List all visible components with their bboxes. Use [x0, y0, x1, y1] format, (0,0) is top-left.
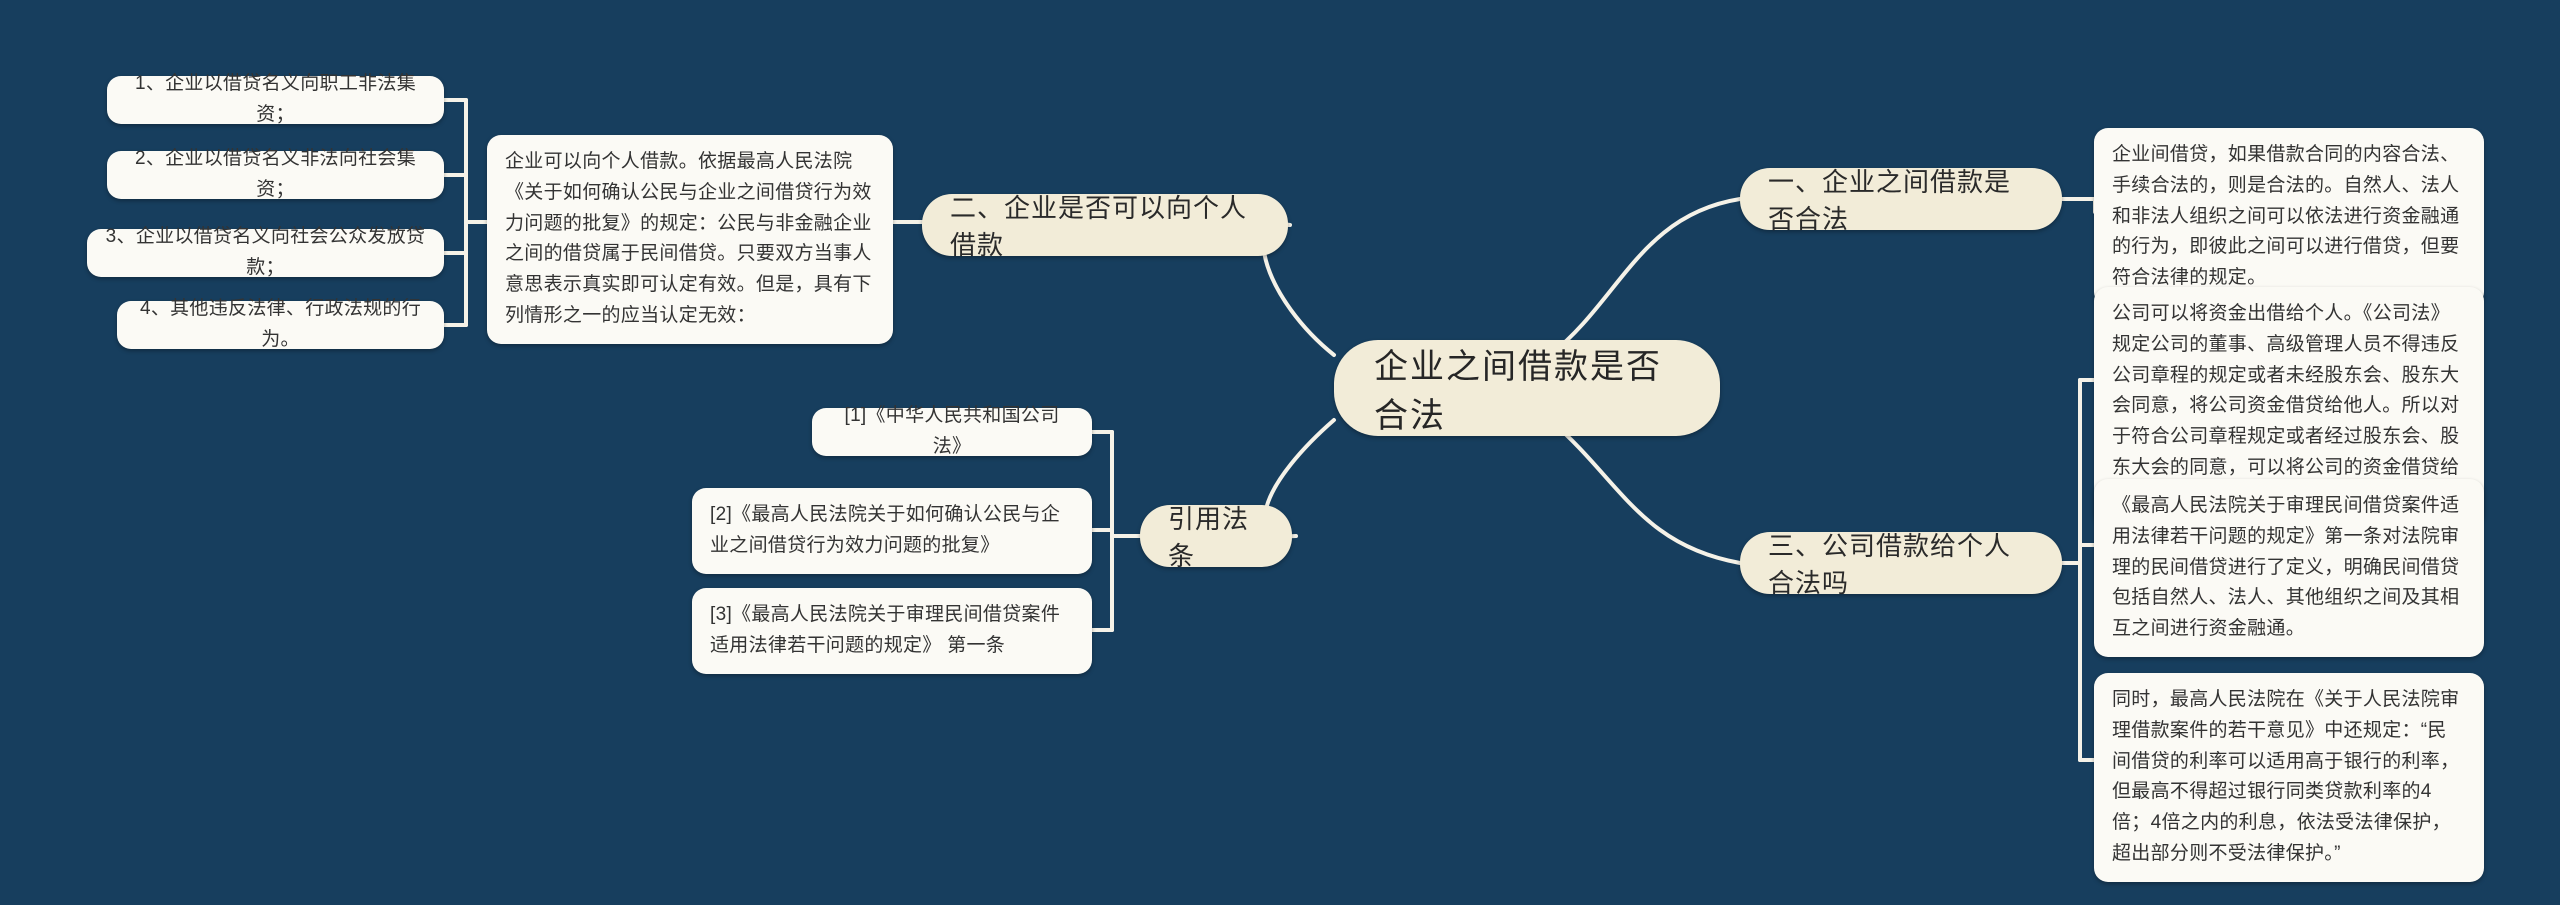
leaf-card-r1c1[interactable]: 企业间借贷，如果借款合同的内容合法、手续合法的，则是合法的。自然人、法人和非法人… — [2094, 128, 2484, 306]
topic-node-branch-3[interactable]: 三、公司借款给个人合法吗 — [1740, 532, 2062, 594]
leaf-text: 同时，最高人民法院在《关于人民法院审理借款案件的若干意见》中还规定：“民间借贷的… — [2112, 689, 2459, 864]
leaf-card-l2c1g4[interactable]: 4、其他违反法律、行政法规的行为。 — [117, 301, 444, 349]
leaf-card-r3c3[interactable]: 同时，最高人民法院在《关于人民法院审理借款案件的若干意见》中还规定：“民间借贷的… — [2094, 673, 2484, 882]
leaf-card-lcc3[interactable]: [3]《最高人民法院关于审理民间借贷案件适用法律若干问题的规定》 第一条 — [692, 588, 1092, 674]
leaf-card-lcc2[interactable]: [2]《最高人民法院关于如何确认公民与企业之间借贷行为效力问题的批复》 — [692, 488, 1092, 574]
leaf-card-l2c1[interactable]: 企业可以向个人借款。依据最高人民法院《关于如何确认公民与企业之间借贷行为效力问题… — [487, 135, 893, 344]
topic-node-branch-1[interactable]: 一、企业之间借款是否合法 — [1740, 168, 2062, 230]
leaf-text: 企业间借贷，如果借款合同的内容合法、手续合法的，则是合法的。自然人、法人和非法人… — [2112, 144, 2459, 288]
leaf-card-l2c1g2[interactable]: 2、企业以借贷名义非法向社会集资； — [107, 151, 444, 199]
leaf-text: [2]《最高人民法院关于如何确认公民与企业之间借贷行为效力问题的批复》 — [710, 504, 1060, 556]
mindmap-canvas: 企业之间借款是否合法 一、企业之间借款是否合法 企业间借贷，如果借款合同的内容合… — [0, 0, 2560, 905]
topic-label: 二、企业是否可以向个人借款 — [950, 188, 1260, 262]
topic-label: 三、公司借款给个人合法吗 — [1768, 526, 2034, 600]
leaf-text: [1]《中华人民共和国公司法》 — [830, 401, 1074, 463]
topic-node-branch-2[interactable]: 二、企业是否可以向个人借款 — [922, 194, 1288, 256]
leaf-text: 2、企业以借贷名义非法向社会集资； — [125, 144, 426, 206]
root-label: 企业之间借款是否合法 — [1374, 339, 1680, 437]
leaf-card-l2c1g3[interactable]: 3、企业以借贷名义向社会公众发放贷款； — [87, 229, 444, 277]
leaf-card-r3c2[interactable]: 《最高人民法院关于审理民间借贷案件适用法律若干问题的规定》第一条对法院审理的民间… — [2094, 479, 2484, 657]
leaf-text: [3]《最高人民法院关于审理民间借贷案件适用法律若干问题的规定》 第一条 — [710, 604, 1060, 656]
leaf-text: 3、企业以借贷名义向社会公众发放贷款； — [105, 222, 426, 284]
leaf-card-l2c1g1[interactable]: 1、企业以借贷名义向职工非法集资； — [107, 76, 444, 124]
topic-node-branch-cite[interactable]: 引用法条 — [1140, 505, 1292, 567]
topic-label: 一、企业之间借款是否合法 — [1768, 162, 2034, 236]
leaf-card-lcc1[interactable]: [1]《中华人民共和国公司法》 — [812, 408, 1092, 456]
leaf-text: 4、其他违反法律、行政法规的行为。 — [135, 294, 426, 356]
root-node[interactable]: 企业之间借款是否合法 — [1334, 340, 1720, 436]
leaf-text: 企业可以向个人借款。依据最高人民法院《关于如何确认公民与企业之间借贷行为效力问题… — [505, 151, 872, 326]
leaf-text: 1、企业以借贷名义向职工非法集资； — [125, 69, 426, 131]
topic-label: 引用法条 — [1168, 499, 1264, 573]
leaf-text: 《最高人民法院关于审理民间借贷案件适用法律若干问题的规定》第一条对法院审理的民间… — [2112, 495, 2459, 639]
leaf-text: 公司可以将资金出借给个人。《公司法》规定公司的董事、高级管理人员不得违反公司章程… — [2112, 303, 2459, 509]
